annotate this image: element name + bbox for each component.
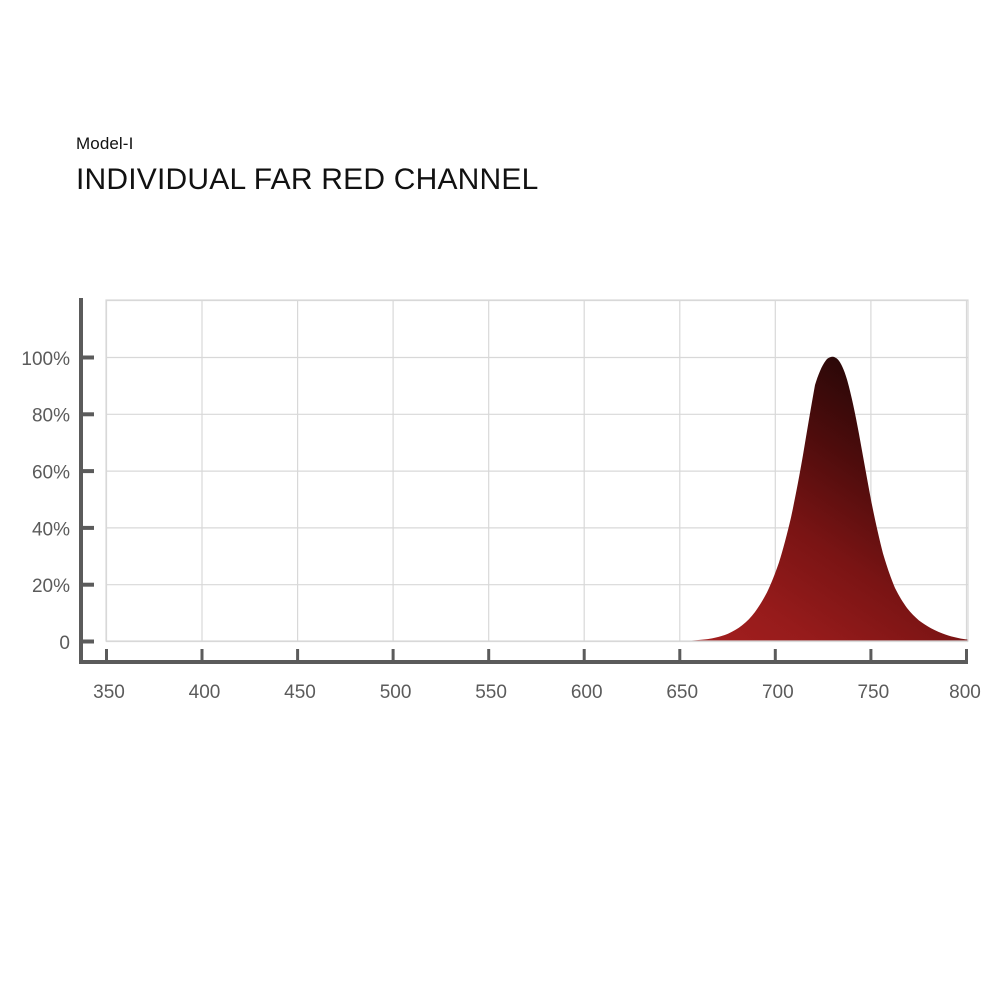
x-tick-label: 800 bbox=[949, 682, 981, 703]
x-tick-label: 600 bbox=[571, 682, 603, 703]
x-tick-label: 650 bbox=[666, 682, 698, 703]
x-tick-labels: 350 400 450 500 550 600 650 700 750 800 bbox=[93, 682, 981, 703]
x-tick-label: 550 bbox=[475, 682, 507, 703]
x-tick-label: 500 bbox=[380, 682, 412, 703]
y-tick-label: 80% bbox=[32, 406, 70, 427]
y-tick-label: 20% bbox=[32, 576, 70, 597]
y-tick-labels: 100% 80% 60% 40% 20% 0 bbox=[21, 349, 70, 654]
y-tick-label: 0 bbox=[59, 633, 70, 654]
spectrum-chart: Model-I INDIVIDUAL FAR RED CHANNEL bbox=[0, 0, 1000, 1000]
x-axis bbox=[79, 649, 968, 662]
x-tick-label: 700 bbox=[762, 682, 794, 703]
y-tick-label: 60% bbox=[32, 463, 70, 484]
x-tick-label: 750 bbox=[857, 682, 889, 703]
y-axis bbox=[81, 298, 94, 662]
spectrum-plot: 100% 80% 60% 40% 20% 0 350 400 450 500 5… bbox=[0, 0, 1000, 1000]
x-tick-label: 400 bbox=[189, 682, 221, 703]
y-tick-label: 40% bbox=[32, 519, 70, 540]
y-tick-label: 100% bbox=[21, 349, 70, 370]
x-tick-label: 450 bbox=[284, 682, 316, 703]
x-tick-label: 350 bbox=[93, 682, 125, 703]
